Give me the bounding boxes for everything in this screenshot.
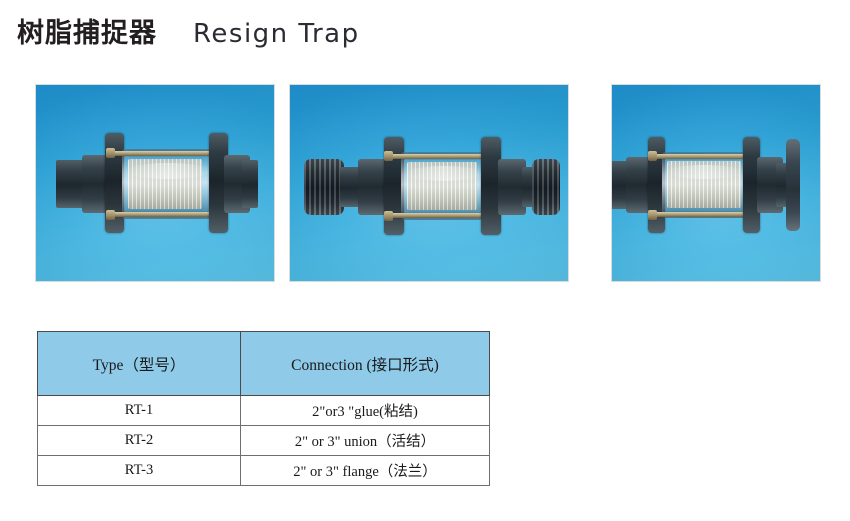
filter-cartridge <box>128 159 202 209</box>
tie-rod-bottom <box>650 212 754 217</box>
resin-trap-union-assembly <box>300 129 558 241</box>
tie-rod-top <box>650 154 754 159</box>
filter-cartridge <box>667 161 741 208</box>
cell-type: RT-3 <box>38 456 241 486</box>
table-row: RT-1 2"or3 "glue(粘结) <box>38 396 490 426</box>
cell-connection: 2" or 3" union（活结） <box>241 426 490 456</box>
left-hub <box>358 159 386 215</box>
product-photo-glue-type[interactable] <box>36 85 274 281</box>
tie-rod-nut-bottom-left <box>106 210 115 220</box>
table-row: RT-2 2" or 3" union（活结） <box>38 426 490 456</box>
page-title-chinese: 树脂捕捉器 <box>17 20 157 47</box>
product-photo-union-type[interactable] <box>290 85 568 281</box>
column-header-type: Type（型号） <box>38 332 241 396</box>
table-header-row: Type（型号） Connection (接口形式) <box>38 332 490 396</box>
tie-rod-nut-top-left <box>106 148 115 158</box>
resin-trap-glue-assembly <box>56 127 258 239</box>
product-photo-flange-type[interactable] <box>612 85 820 281</box>
tie-rod-top <box>108 151 220 156</box>
product-photo-gallery <box>0 85 850 281</box>
page-title: 树脂捕捉器 Resign Trap <box>17 20 360 47</box>
cell-type: RT-2 <box>38 426 241 456</box>
tie-rod-bottom <box>108 212 220 217</box>
cell-connection: 2" or 3" flange（法兰） <box>241 456 490 486</box>
resin-trap-flange-assembly <box>612 133 812 237</box>
left-union-nut <box>304 159 344 215</box>
right-union-nut <box>532 159 560 215</box>
tie-rod-nut-bottom-left <box>648 210 657 220</box>
tie-rod-nut-bottom-left <box>384 211 393 221</box>
table-row: RT-3 2" or 3" flange（法兰） <box>38 456 490 486</box>
tie-rod-nut-top-left <box>384 151 393 161</box>
outlet-ring-flange <box>786 139 800 231</box>
right-socket-pipe <box>242 160 258 208</box>
cell-connection: 2"or3 "glue(粘结) <box>241 396 490 426</box>
column-header-connection: Connection (接口形式) <box>241 332 490 396</box>
page-title-english: Resign Trap <box>193 21 360 47</box>
tie-rod-nut-top-left <box>648 151 657 161</box>
tie-rod-top <box>386 154 490 159</box>
cell-type: RT-1 <box>38 396 241 426</box>
filter-cartridge <box>407 162 477 210</box>
specification-table: Type（型号） Connection (接口形式) RT-1 2"or3 "g… <box>37 331 490 486</box>
tie-rod-bottom <box>386 213 490 218</box>
